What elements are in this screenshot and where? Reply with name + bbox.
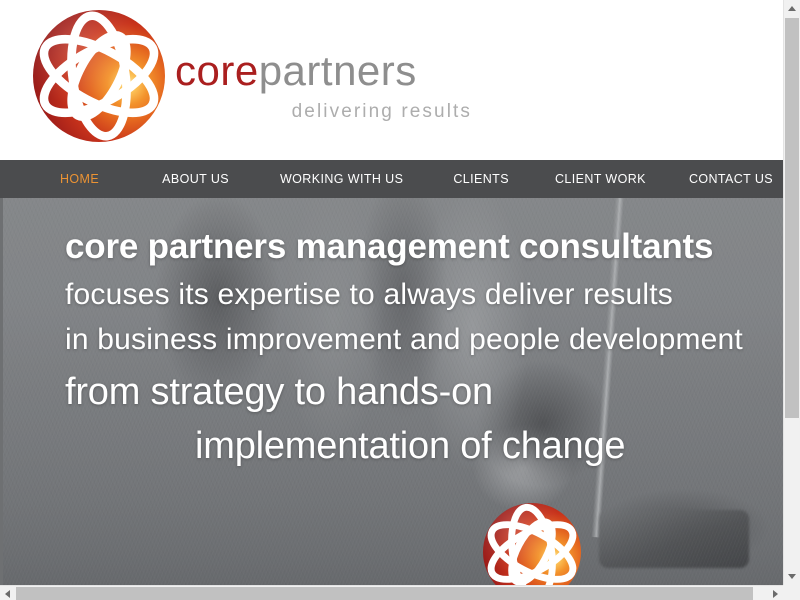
- page-content: corepartners delivering results HOME ABO…: [0, 0, 783, 585]
- vertical-scrollbar[interactable]: [783, 0, 800, 585]
- scroll-down-arrow-icon[interactable]: [784, 568, 800, 585]
- nav-link-contact-us[interactable]: CONTACT US: [689, 160, 773, 198]
- site-header: corepartners delivering results: [0, 0, 783, 160]
- logo-name-core: core: [175, 47, 259, 94]
- logo-wordmark: corepartners delivering results: [175, 48, 475, 144]
- hero-line-3: in business improvement and people devel…: [65, 317, 752, 362]
- logo-name-partners: partners: [259, 47, 417, 94]
- hero-headline-block: core partners management consultants foc…: [3, 198, 783, 473]
- scroll-up-arrow-icon[interactable]: [784, 0, 800, 17]
- nav-item-home[interactable]: HOME: [60, 160, 99, 198]
- main-navigation: HOME ABOUT US WORKING WITH US CLIENTS CL…: [0, 160, 783, 198]
- hero-line-4: from strategy to hands-on: [65, 365, 752, 419]
- atom-sphere-icon: [483, 503, 581, 585]
- scrollbar-corner: [783, 585, 800, 600]
- hero-banner: core partners management consultants foc…: [0, 198, 783, 585]
- scroll-left-arrow-icon[interactable]: [0, 586, 15, 600]
- nav-item-about-us[interactable]: ABOUT US: [162, 160, 229, 198]
- nav-link-clients[interactable]: CLIENTS: [453, 160, 509, 198]
- atom-sphere-icon: [33, 10, 165, 142]
- nav-item-working-with-us[interactable]: WORKING WITH US: [280, 160, 403, 198]
- nav-item-client-work[interactable]: CLIENT WORK: [555, 160, 646, 198]
- browser-viewport: corepartners delivering results HOME ABO…: [0, 0, 800, 600]
- nav-item-contact-us[interactable]: CONTACT US: [689, 160, 773, 198]
- nav-link-about-us[interactable]: ABOUT US: [162, 160, 229, 198]
- scroll-right-arrow-glyph: [773, 590, 778, 598]
- scroll-left-arrow-glyph: [5, 590, 10, 598]
- hero-line-5: implementation of change: [65, 419, 752, 473]
- nav-item-clients[interactable]: CLIENTS: [453, 160, 509, 198]
- scroll-up-arrow-glyph: [788, 6, 796, 11]
- scroll-right-arrow-icon[interactable]: [768, 586, 783, 600]
- nav-list: HOME ABOUT US WORKING WITH US CLIENTS CL…: [0, 160, 783, 198]
- logo-tagline: delivering results: [175, 101, 475, 123]
- site-logo[interactable]: corepartners delivering results: [33, 10, 473, 150]
- nav-link-home[interactable]: HOME: [60, 160, 99, 198]
- scroll-down-arrow-glyph: [788, 574, 796, 579]
- nav-link-client-work[interactable]: CLIENT WORK: [555, 160, 646, 198]
- nav-link-working-with-us[interactable]: WORKING WITH US: [280, 160, 403, 198]
- logo-name: corepartners: [175, 47, 417, 94]
- hero-line-2: focuses its expertise to always deliver …: [65, 272, 752, 317]
- vertical-scrollbar-thumb[interactable]: [785, 18, 799, 418]
- horizontal-scrollbar-thumb[interactable]: [16, 587, 753, 600]
- horizontal-scrollbar[interactable]: [0, 585, 800, 600]
- hero-line-1: core partners management consultants: [65, 222, 752, 272]
